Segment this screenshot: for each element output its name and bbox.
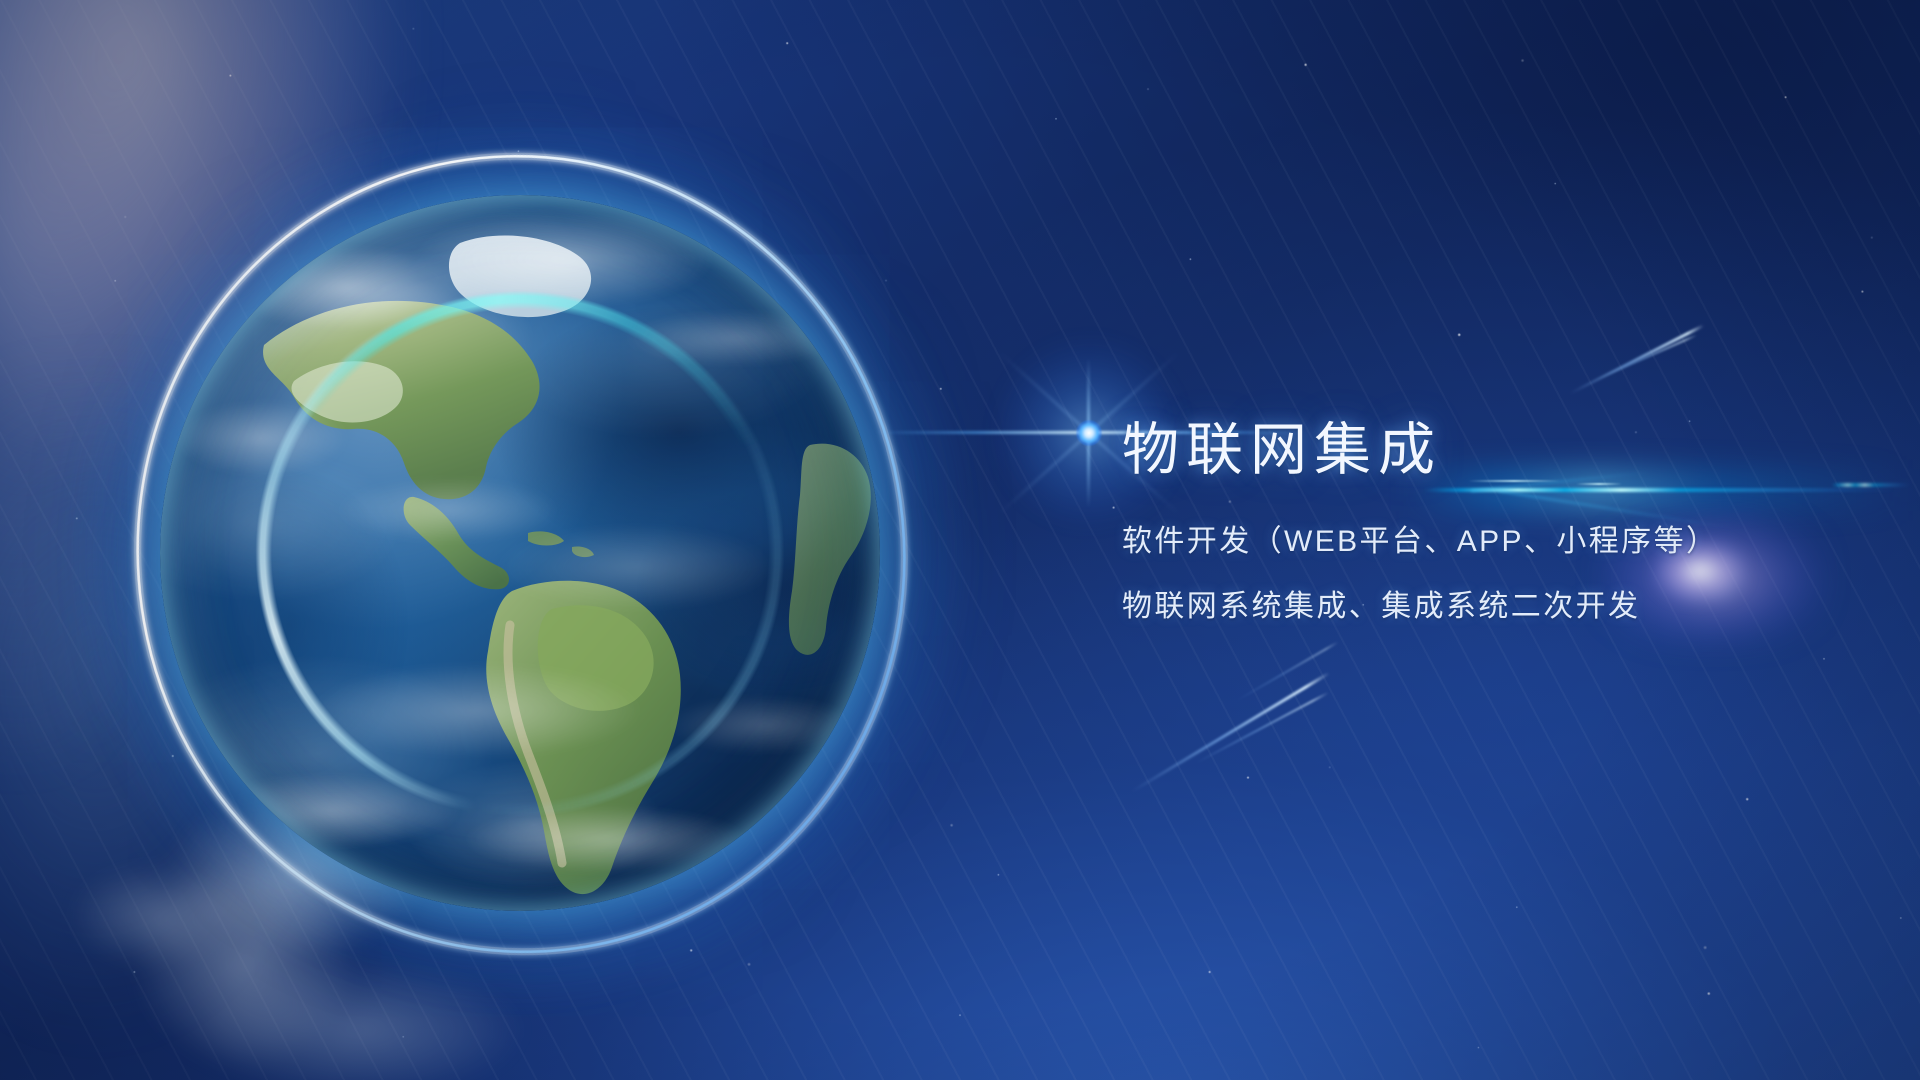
shooting-star-5 (1236, 641, 1339, 702)
subtitle-line-2: 物联网系统集成、集成系统二次开发 (1122, 577, 1862, 636)
subtitle-line-1: 软件开发（WEB平台、APP、小程序等） (1122, 512, 1862, 571)
banner-stage: 物联网集成 软件开发（WEB平台、APP、小程序等） 物联网系统集成、集成系统二… (0, 0, 1920, 1080)
shooting-star-1 (1569, 324, 1704, 395)
lens-flare-star (1088, 432, 1089, 433)
banner-subtitle: 软件开发（WEB平台、APP、小程序等） 物联网系统集成、集成系统二次开发 (1122, 512, 1862, 637)
earth-globe (160, 195, 880, 911)
flare-core (1076, 420, 1102, 446)
banner-text-block: 物联网集成 软件开发（WEB平台、APP、小程序等） 物联网系统集成、集成系统二… (1122, 420, 1862, 636)
flare-vertical-beam (1087, 358, 1090, 508)
shooting-star-2 (1598, 334, 1697, 380)
globe-limb-cyan (157, 192, 883, 914)
shooting-star-3 (1131, 672, 1330, 793)
shooting-star-4 (1196, 692, 1329, 764)
page-title: 物联网集成 (1122, 420, 1862, 482)
